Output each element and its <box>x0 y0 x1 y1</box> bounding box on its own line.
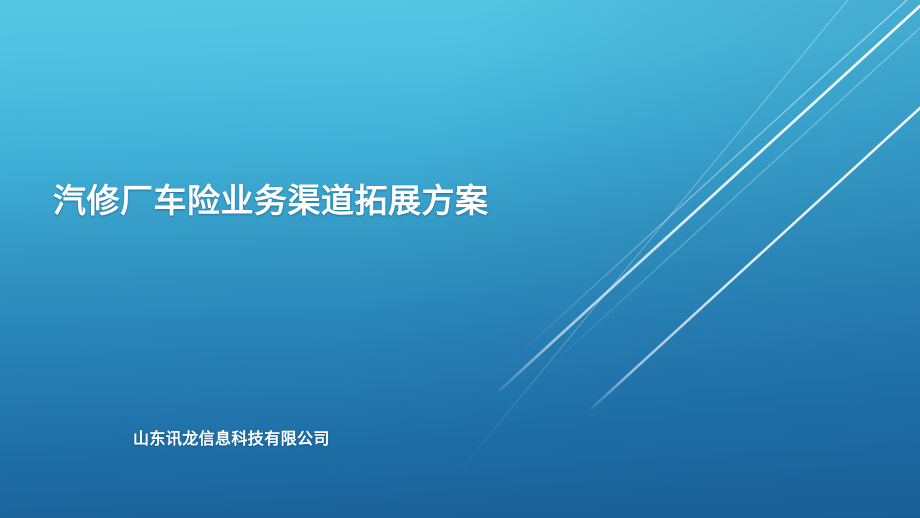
title-slide: 汽修厂车险业务渠道拓展方案 山东讯龙信息科技有限公司 <box>0 0 920 518</box>
streak-line-1 <box>527 0 920 347</box>
streak-line-4 <box>592 108 920 408</box>
title-block: 汽修厂车险业务渠道拓展方案 <box>53 181 693 221</box>
page-title: 汽修厂车险业务渠道拓展方案 <box>53 181 693 221</box>
streak-line-5 <box>462 0 856 468</box>
company-name: 山东讯龙信息科技有限公司 <box>133 429 553 451</box>
subtitle-block: 山东讯龙信息科技有限公司 <box>133 429 553 451</box>
